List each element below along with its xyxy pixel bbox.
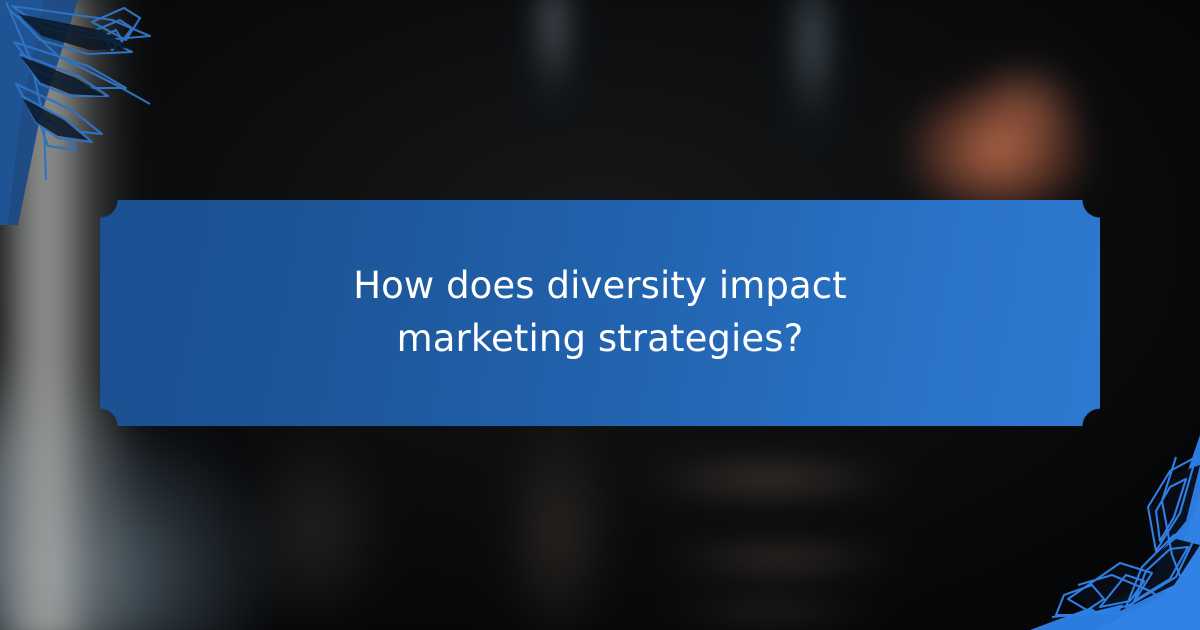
question-card-content: How does diversity impact marketing stra… [100,200,1100,426]
question-card: How does diversity impact marketing stra… [100,200,1100,426]
question-text: How does diversity impact marketing stra… [270,260,930,365]
poster-canvas: How does diversity impact marketing stra… [0,0,1200,630]
